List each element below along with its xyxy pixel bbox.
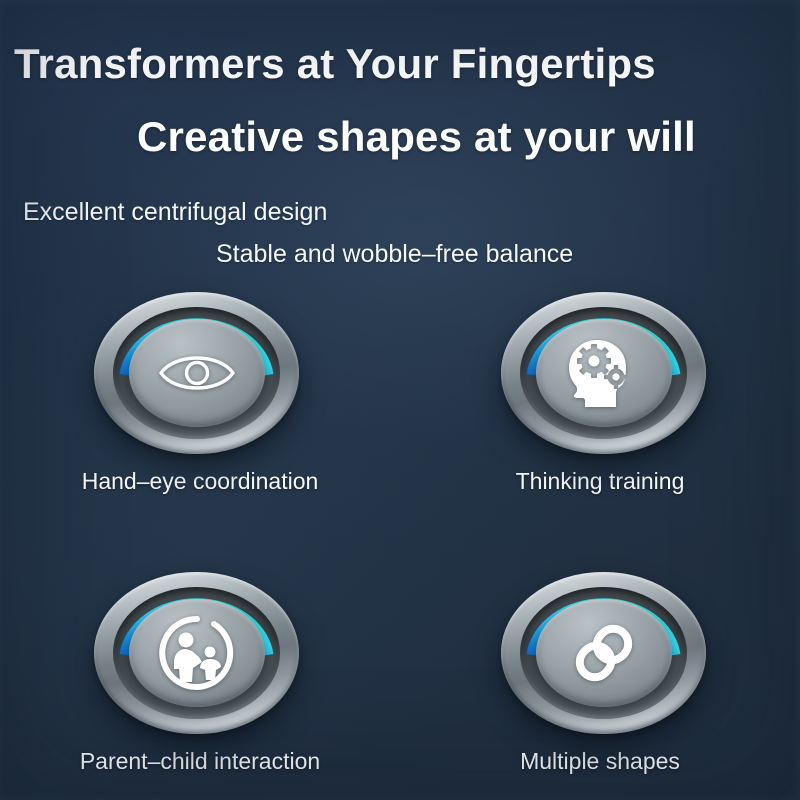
feature-item-multiple-shapes[interactable]: Multiple shapes <box>400 572 800 800</box>
headline-secondary: Creative shapes at your will <box>137 113 696 161</box>
feature-badge <box>501 572 706 734</box>
feature-badge <box>94 572 299 734</box>
headline-primary: Transformers at Your Fingertips <box>14 40 656 88</box>
feature-item-parent-child-interaction[interactable]: Parent–child interaction <box>0 572 400 800</box>
feature-label: Multiple shapes <box>520 748 680 775</box>
feature-item-thinking-training[interactable]: Thinking training <box>400 292 800 572</box>
subtitle-centrifugal-design: Excellent centrifugal design <box>23 198 327 227</box>
feature-badge <box>94 292 299 454</box>
chain-link-icon <box>567 616 641 690</box>
parent-child-icon <box>156 614 238 692</box>
eye-icon <box>155 345 239 401</box>
badge-dome <box>129 319 265 427</box>
badge-dome <box>536 319 672 427</box>
feature-item-hand-eye-coordination[interactable]: Hand–eye coordination <box>0 292 400 572</box>
feature-label: Hand–eye coordination <box>82 468 319 495</box>
badge-dome <box>129 599 265 707</box>
badge-dome <box>536 599 672 707</box>
feature-label: Parent–child interaction <box>80 748 320 775</box>
promo-poster: Transformers at Your Fingertips Creative… <box>0 0 800 800</box>
feature-label: Thinking training <box>516 468 685 495</box>
head-gears-icon <box>564 337 644 409</box>
subtitle-stable-balance: Stable and wobble–free balance <box>216 240 573 269</box>
feature-badge <box>501 292 706 454</box>
feature-grid: Hand–eye coordination <box>0 292 800 800</box>
